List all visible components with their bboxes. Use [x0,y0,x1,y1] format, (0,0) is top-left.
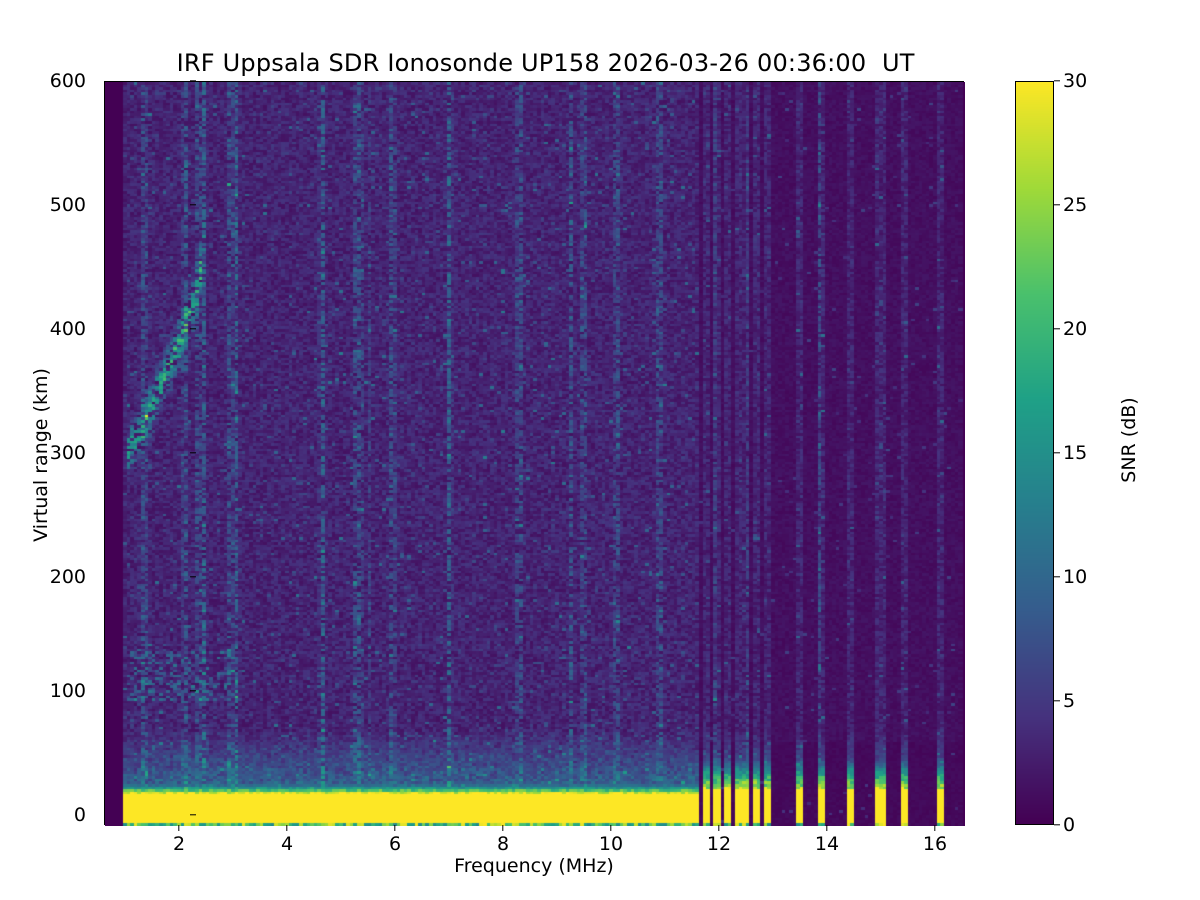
x-tick-label-10: 10 [599,833,623,855]
colorbar-tick-label-30: 30 [1063,70,1087,92]
x-tick-mark-8 [502,825,503,831]
y-tick-mark-200 [190,576,196,577]
x-tick-mark-4 [286,825,287,831]
x-tick-mark-14 [826,825,827,831]
x-tick-mark-6 [394,825,395,831]
title-line-1: IRF Uppsala SDR Ionosonde UP158 2026-03-… [177,49,915,77]
y-tick-label-500: 500 [50,194,86,216]
y-tick-mark-400 [190,328,196,329]
y-tick-mark-500 [190,204,196,205]
y-tick-label-200: 200 [50,566,86,588]
colorbar-tick-label-25: 25 [1063,194,1087,216]
y-tick-label-100: 100 [50,680,86,702]
colorbar-tick-mark-0 [1054,824,1060,825]
y-tick-label-400: 400 [50,318,86,340]
colorbar-gradient-canvas [1016,82,1053,824]
y-tick-label-0: 0 [74,804,86,826]
colorbar-tick-label-10: 10 [1063,566,1087,588]
y-tick-mark-0 [190,814,196,815]
colorbar-tick-label-15: 15 [1063,442,1087,464]
x-tick-label-14: 14 [815,833,839,855]
colorbar-tick-label-0: 0 [1063,814,1075,836]
y-axis-label: Virtual range (km) [30,305,52,605]
colorbar-tick-mark-25 [1054,204,1060,205]
colorbar-tick-mark-10 [1054,576,1060,577]
x-tick-label-16: 16 [923,833,947,855]
y-tick-label-600: 600 [50,70,86,92]
colorbar-tick-label-5: 5 [1063,690,1075,712]
colorbar-tick-label-20: 20 [1063,318,1087,340]
x-tick-label-6: 6 [389,833,401,855]
x-tick-label-8: 8 [497,833,509,855]
colorbar-tick-mark-20 [1054,328,1060,329]
colorbar-tick-mark-15 [1054,452,1060,453]
y-tick-mark-600 [190,80,196,81]
y-tick-label-300: 300 [50,442,86,464]
x-tick-label-2: 2 [173,833,185,855]
x-axis-label: Frequency (MHz) [104,855,964,877]
ionogram-figure: IRF Uppsala SDR Ionosonde UP158 2026-03-… [0,0,1200,900]
colorbar-tick-mark-5 [1054,700,1060,701]
y-tick-mark-100 [190,690,196,691]
x-tick-label-12: 12 [707,833,731,855]
x-tick-mark-16 [934,825,935,831]
x-tick-label-4: 4 [281,833,293,855]
colorbar[interactable] [1015,81,1054,825]
x-tick-mark-12 [718,825,719,831]
colorbar-tick-mark-30 [1054,80,1060,81]
y-tick-mark-300 [190,452,196,453]
x-tick-mark-10 [610,825,611,831]
x-tick-mark-2 [178,825,179,831]
ionogram-heatmap-canvas [105,82,965,826]
colorbar-label: SNR (dB) [1118,290,1140,590]
ionogram-plot-area[interactable] [104,81,964,825]
